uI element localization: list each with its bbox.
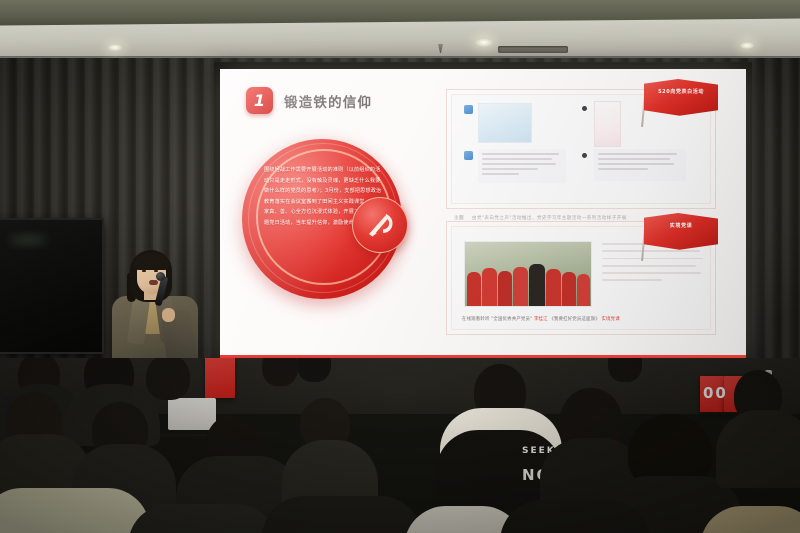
slide-section-badge: 1 [246,87,273,114]
volunteer-group-photo [464,241,592,307]
projection-screen[interactable]: 1 锻造铁的信仰 围绕轻战工作需要开展活动的准则（以前组织的活动只是走走形式，没… [220,69,746,363]
ribbon-banner-top: 520向党表白活动 [644,79,718,119]
party-emblem-icon [352,197,408,253]
caption-work: 《我要扛好党员这面旗》 [549,317,600,322]
presenter-mouth [149,280,158,285]
chat-avatar-icon [464,151,473,160]
ribbon-label: 实境党课 [644,222,718,231]
presentation-slide: 1 锻造铁的信仰 围绕轻战工作需要开展活动的准则（以前组织的活动只是走走形式，没… [220,69,746,363]
microphone-head-icon [156,272,165,281]
chat-avatar-icon [582,153,587,158]
chat-avatar-icon [582,106,587,111]
bubble-text-lines [482,153,562,178]
downlight-icon [108,44,122,51]
chat-image-boat [478,103,532,143]
monitor-glare [8,232,48,248]
caption-name: 李桂江 [534,317,548,322]
chat-text-bubble [478,149,566,183]
presenter-eye [142,270,146,272]
bubble-text-lines [598,153,682,173]
wall-monitor[interactable] [0,218,104,354]
ribbon-body [644,79,718,119]
ribbon-body [644,213,718,253]
downlight-icon [740,42,754,49]
downlight-icon [475,38,493,47]
presenter-fringe [134,253,169,270]
presenter [96,248,214,374]
audience-vignette [0,358,800,533]
slide-title: 锻造铁的信仰 [284,91,372,111]
panel-caption: 在线观看聆听 "全国优秀共产党员" 李桂江 《我要扛好党员这面旗》 实境党课 [462,316,620,322]
chat-image-flower [594,101,621,147]
screenshot-root: 1 锻造铁的信仰 围绕轻战工作需要开展活动的准则（以前组织的活动只是走走形式，没… [0,0,800,533]
caption-suffix: 实境党课 [601,317,619,322]
caption-quote: "全国优秀共产党员" [491,317,532,322]
audience: 00 SEEK NO [0,358,800,533]
air-vent-icon [498,46,568,53]
chat-avatar-icon [464,105,473,114]
ribbon-label: 520向党表白活动 [644,88,718,97]
ribbon-banner-bottom: 实境党课 [644,213,718,253]
caption-prefix: 在线观看聆听 [462,317,490,322]
chat-text-bubble [594,149,686,181]
presenter-hand [162,308,175,322]
